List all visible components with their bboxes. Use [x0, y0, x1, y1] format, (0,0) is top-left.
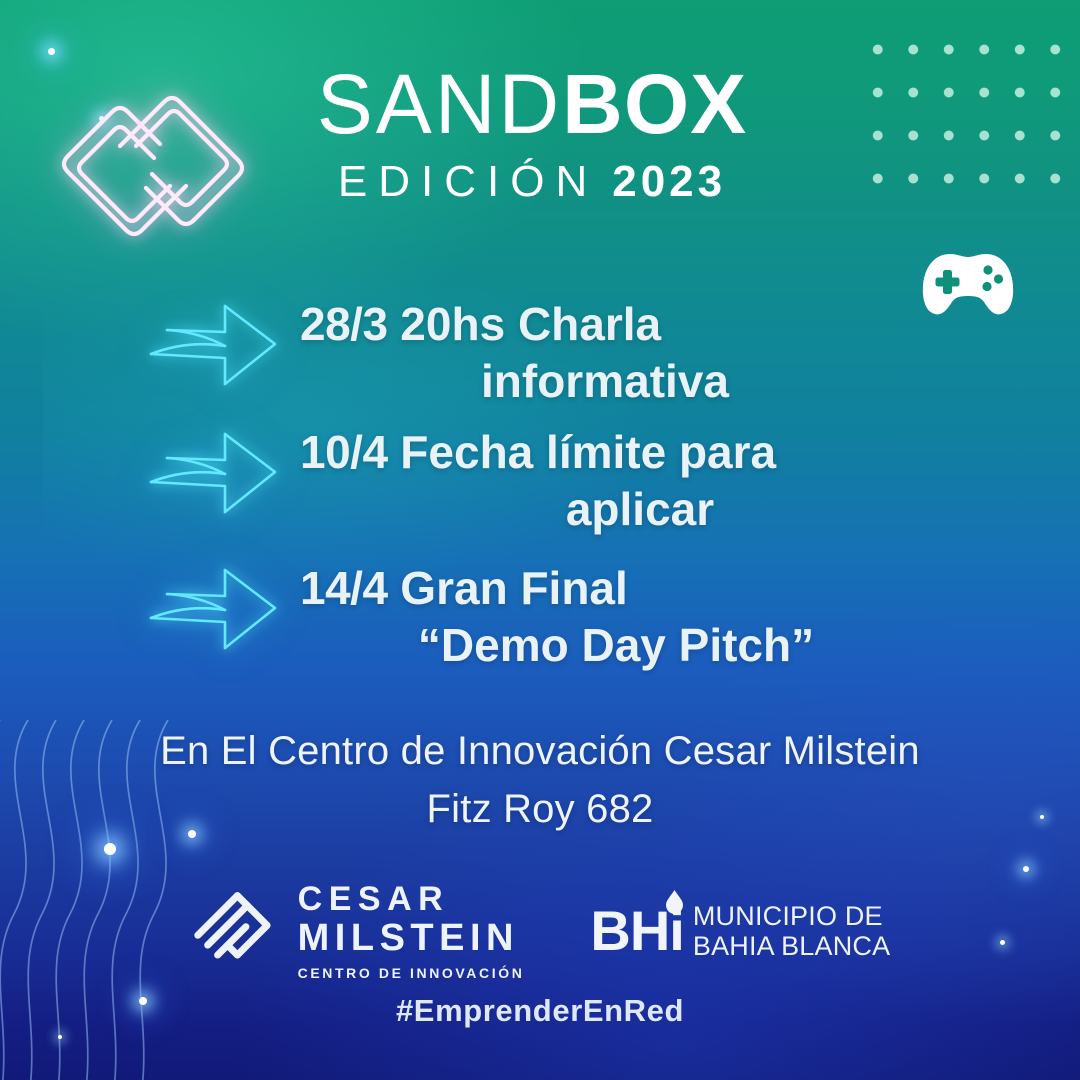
sponsor-tagline: CENTRO DE INNOVACIÓN: [298, 963, 525, 983]
schedule-item-line1: Fecha límite para: [388, 426, 777, 478]
subtitle-year: 2023: [612, 157, 726, 206]
sparkle-dot: [1023, 866, 1029, 872]
hashtag: #EmprenderEnRed: [0, 993, 1080, 1029]
neon-arrow-right-icon: [147, 566, 282, 652]
bhi-logo-icon: BHi: [590, 903, 683, 959]
poster-subtitle: EDICIÓN2023: [272, 156, 792, 208]
venue-line-2: Fitz Roy 682: [0, 780, 1080, 838]
schedule-item-date: 10/4: [300, 426, 388, 478]
subtitle-edicion: EDICIÓN: [338, 157, 598, 206]
bhi-wordmark: MUNICIPIO DE BAHIA BLANCA: [693, 901, 890, 961]
schedule-item-line1: 20hs Charla: [388, 298, 662, 350]
schedule-item-text: 14/4 Gran Final“Demo Day Pitch”: [300, 560, 1080, 674]
schedule-list: 28/3 20hs Charlainformativa: [0, 296, 1080, 690]
title-part-sand: SAND: [317, 57, 562, 151]
poster-header: SANDBOX EDICIÓN2023: [0, 58, 1080, 248]
sparkle-dot: [48, 48, 55, 55]
venue-block: En El Centro de Innovación Cesar Milstei…: [0, 722, 1080, 838]
schedule-item: 14/4 Gran Final“Demo Day Pitch”: [0, 560, 1080, 690]
schedule-item: 28/3 20hs Charlainformativa: [0, 296, 1080, 424]
neon-arrow-right-icon: [147, 302, 282, 388]
sparkle-dot: [104, 843, 116, 855]
title-part-box: BOX: [562, 57, 747, 151]
schedule-item-line1: Gran Final: [388, 562, 628, 614]
sponsor-logos: CESAR MILSTEIN CENTRO DE INNOVACIÓN BHi …: [0, 876, 1080, 986]
schedule-item-date: 14/4: [300, 562, 388, 614]
bhi-monogram: BH: [590, 899, 669, 962]
sponsor-bahia-blanca: BHi MUNICIPIO DE BAHIA BLANCA: [590, 901, 890, 961]
neon-arrow-right-icon: [147, 430, 282, 516]
schedule-item-text: 10/4 Fecha límite paraaplicar: [300, 424, 1080, 538]
schedule-item-line2: informativa: [300, 353, 910, 410]
schedule-item-text: 28/3 20hs Charlainformativa: [300, 296, 1080, 410]
poster-title-block: SANDBOX EDICIÓN2023: [272, 58, 792, 208]
schedule-item-line2: “Demo Day Pitch”: [300, 617, 932, 674]
sparkle-dot: [58, 1035, 62, 1039]
cesar-milstein-wordmark: CESAR MILSTEIN CENTRO DE INNOVACIÓN: [298, 880, 525, 983]
bhi-pin-drop-icon: [666, 890, 683, 914]
sponsor-cesar-milstein: CESAR MILSTEIN CENTRO DE INNOVACIÓN: [190, 880, 525, 983]
sponsor-name-line-1: MUNICIPIO DE: [693, 901, 890, 931]
sponsor-name-line-2: BAHIA BLANCA: [693, 931, 890, 961]
venue-line-1: En El Centro de Innovación Cesar Milstei…: [0, 722, 1080, 780]
schedule-item-line2: aplicar: [300, 481, 980, 538]
schedule-item-date: 28/3: [300, 298, 388, 350]
sandbox-neon-interlock-logo-icon: [48, 76, 258, 256]
poster-title: SANDBOX: [272, 58, 792, 150]
sponsor-name-line-1: CESAR: [298, 880, 525, 918]
cesar-milstein-mark-icon: [190, 887, 282, 975]
sponsor-name-line-2: MILSTEIN: [298, 918, 525, 959]
schedule-item: 10/4 Fecha límite paraaplicar: [0, 424, 1080, 560]
poster-canvas: SANDBOX EDICIÓN2023: [0, 0, 1080, 1080]
